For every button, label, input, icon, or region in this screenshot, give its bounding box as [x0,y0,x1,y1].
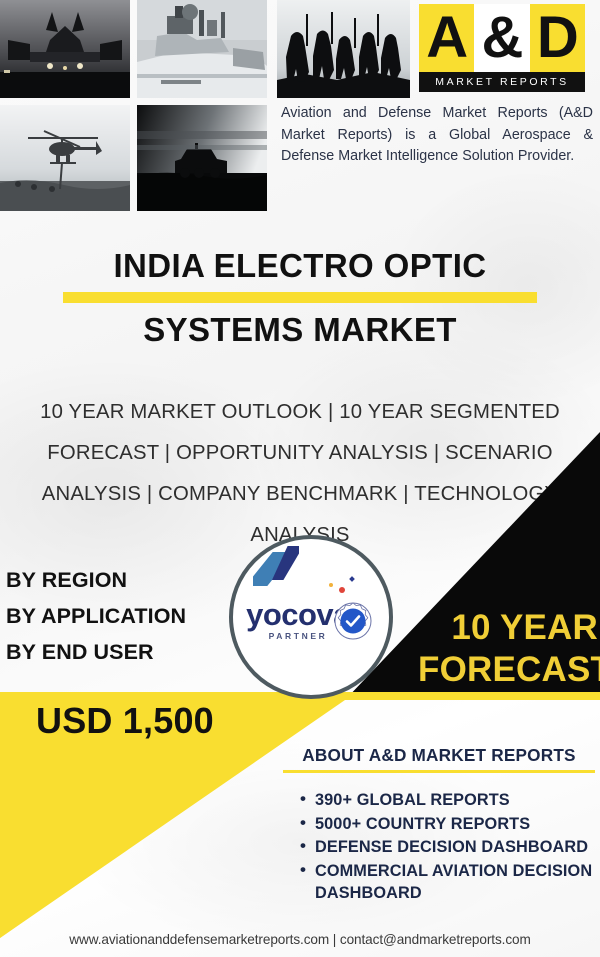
logo-letter-d: D [530,4,585,72]
report-title-line-2: SYSTEMS MARKET [0,309,600,351]
about-bullet-defense-dashboard: DEFENSE DECISION DASHBOARD [315,836,595,859]
yocova-spark-red-icon [339,587,345,593]
verified-check-icon [333,601,373,641]
photo-helicopter [0,105,130,211]
segment-item-by-application: BY APPLICATION [6,598,186,634]
yocova-spark-yellow-icon [329,583,333,587]
segment-item-by-end-user: BY END USER [6,634,186,670]
photo-soldiers [277,0,410,98]
price-tag: USD 1,500 [36,700,214,742]
about-section: ABOUT A&D MARKET REPORTS 390+ GLOBAL REP… [283,745,595,906]
logo-tagline: MARKET REPORTS [419,72,585,92]
logo-letters: A & D [419,4,585,72]
about-bullet-commercial-dashboard: COMMERCIAL AVIATION DECISION DASHBOARD [315,860,595,905]
report-title: INDIA ELECTRO OPTIC SYSTEMS MARKET [0,245,600,351]
about-heading: ABOUT A&D MARKET REPORTS [283,745,595,773]
report-title-line-1: INDIA ELECTRO OPTIC [0,245,600,287]
about-bullet-global-reports: 390+ GLOBAL REPORTS [315,789,595,812]
logo-letter-a: A [419,4,474,72]
photo-armored-vehicle [137,105,267,211]
title-yellow-rule [63,292,537,303]
segment-list: BY REGION BY APPLICATION BY END USER [6,562,186,670]
company-intro-paragraph: Aviation and Defense Market Reports (A&D… [281,103,593,168]
photo-fighter-jet [0,0,130,98]
logo-letter-amp: & [474,4,529,72]
yocova-partner-badge: yocova PARTNER [229,535,393,699]
brand-logo: A & D MARKET REPORTS [419,4,585,92]
report-subtitle: 10 YEAR MARKET OUTLOOK | 10 YEAR SEGMENT… [18,392,582,556]
forecast-callout: 10 YEAR FORECAST [418,607,598,691]
forecast-line-1: 10 YEAR [418,607,598,649]
footer-contact: www.aviationanddefensemarketreports.com … [0,932,600,947]
about-bullet-list: 390+ GLOBAL REPORTS 5000+ COUNTRY REPORT… [283,789,595,905]
photo-naval-ship [137,0,267,98]
forecast-line-2: FORECAST [418,649,598,691]
about-bullet-country-reports: 5000+ COUNTRY REPORTS [315,813,595,836]
segment-item-by-region: BY REGION [6,562,186,598]
yocova-spark-navy-icon [349,576,355,582]
poster-root: A & D MARKET REPORTS Aviation and Defens… [0,0,600,957]
